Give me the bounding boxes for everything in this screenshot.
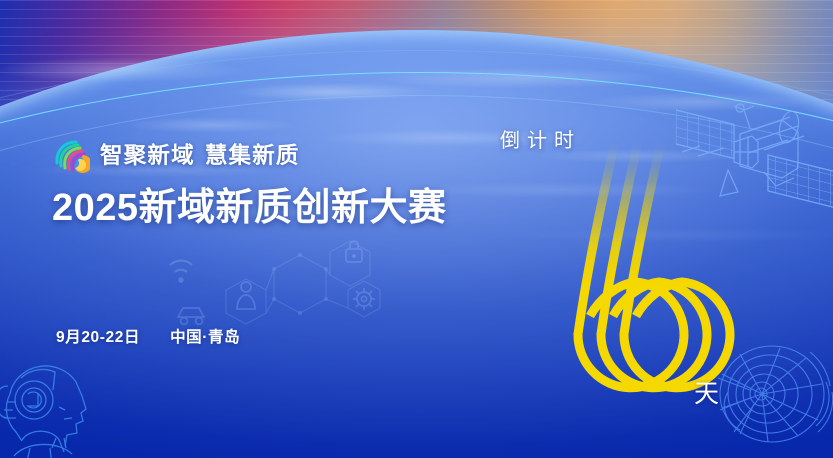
slogan-right: 慧集新质 — [205, 143, 300, 168]
event-meta: 9月20-22日中国·青岛 — [56, 325, 240, 347]
countdown-unit: 天 — [694, 374, 719, 410]
countdown-label: 倒计时 — [500, 124, 581, 153]
headline-block: 智聚新域慧集新质 2025新域新质创新大赛 — [52, 137, 492, 230]
event-date: 9月20-22日 — [56, 329, 140, 346]
brand-slogan: 智聚新域慧集新质 — [100, 145, 300, 168]
swirl-logo-icon — [52, 137, 90, 175]
event-countdown-banner: 智聚新域慧集新质 2025新域新质创新大赛 9月20-22日中国·青岛 倒计时 — [0, 0, 833, 458]
event-location: 中国·青岛 — [170, 329, 240, 346]
brand-row: 智聚新域慧集新质 — [52, 137, 492, 175]
slogan-left: 智聚新域 — [100, 143, 195, 168]
page-title: 2025新域新质创新大赛 — [52, 187, 492, 230]
